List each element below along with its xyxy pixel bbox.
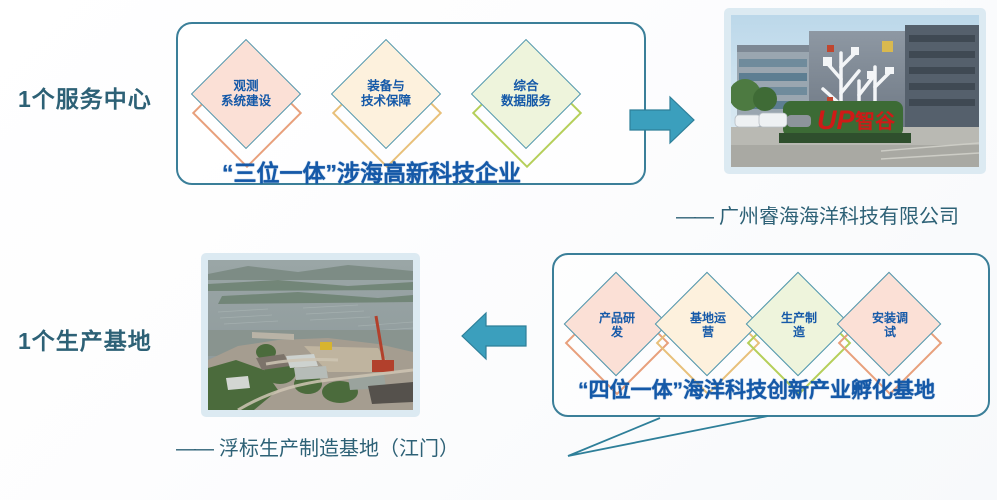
diamond-integrated-data-service[interactable]: 综合 数据服务 bbox=[478, 46, 574, 142]
caption-dash: —— bbox=[676, 206, 712, 228]
diamond-base-operation[interactable]: 基地运 营 bbox=[661, 278, 755, 372]
caption-production-base: ——浮标生产制造基地（江门） bbox=[176, 432, 459, 461]
caption-text: 浮标生产制造基地（江门） bbox=[219, 438, 459, 460]
callout-tail bbox=[540, 400, 770, 462]
photo-frame-company[interactable]: UP 智谷 bbox=[724, 8, 986, 174]
diamond-product-rnd[interactable]: 产品研 发 bbox=[570, 278, 664, 372]
svg-text:智谷: 智谷 bbox=[855, 109, 896, 133]
top-panel-headline: “三位一体”涉海高新科技企业 bbox=[222, 154, 521, 188]
slide-canvas: 1个服务中心 1个生产基地 观测 系统建设 装备与 技术保障 综合 数据服务 “… bbox=[0, 0, 997, 500]
photo-production-base-aerial bbox=[208, 260, 413, 410]
arrow-right-icon bbox=[628, 94, 696, 146]
diamond-installation-debug[interactable]: 安装调 试 bbox=[843, 278, 937, 372]
row-label-production-base: 1个生产基地 bbox=[18, 322, 152, 356]
row-label-service-center: 1个服务中心 bbox=[18, 80, 152, 114]
photo-frame-production-base[interactable] bbox=[201, 253, 420, 417]
caption-company: ——广州睿海海洋科技有限公司 bbox=[676, 200, 959, 229]
diamond-observation-system[interactable]: 观测 系统建设 bbox=[198, 46, 294, 142]
arrow-left-icon bbox=[460, 310, 528, 362]
caption-text: 广州睿海海洋科技有限公司 bbox=[719, 206, 959, 228]
diamond-equipment-tech-support[interactable]: 装备与 技术保障 bbox=[338, 46, 434, 142]
bottom-panel-headline: “四位一体”海洋科技创新产业孵化基地 bbox=[578, 374, 935, 404]
photo-company-campus: UP 智谷 bbox=[731, 15, 979, 167]
diamond-manufacturing[interactable]: 生产制 造 bbox=[752, 278, 846, 372]
svg-text:UP: UP bbox=[817, 105, 855, 135]
caption-dash: —— bbox=[176, 438, 212, 460]
